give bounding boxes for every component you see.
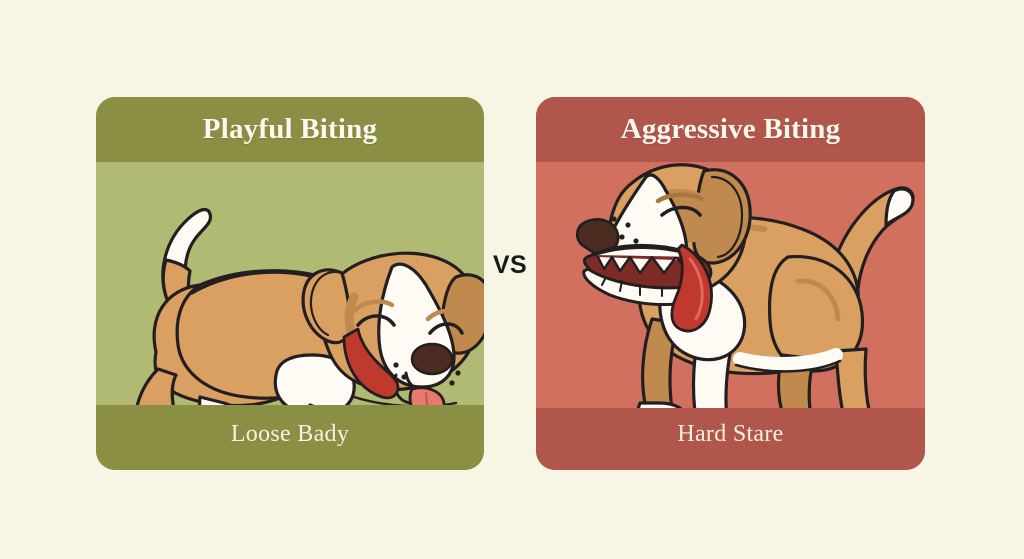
- aggressive-panel-caption: Hard Stare: [536, 421, 925, 448]
- vs-divider-label: VS: [484, 245, 536, 285]
- panel-playful-biting: Playful Biting Loose Bady: [96, 97, 484, 470]
- playful-panel-header: Playful Biting: [96, 97, 484, 162]
- playful-panel-title: Playful Biting: [203, 113, 377, 146]
- aggressive-panel-title: Aggressive Biting: [621, 113, 841, 146]
- aggressive-panel-header: Aggressive Biting: [536, 97, 925, 162]
- panel-aggressive-biting: Aggressive Biting Hard Stare: [536, 97, 925, 470]
- playful-panel-caption: Loose Bady: [96, 421, 484, 448]
- comparison-infographic: Playful Biting Loose Bady VS: [0, 0, 1024, 559]
